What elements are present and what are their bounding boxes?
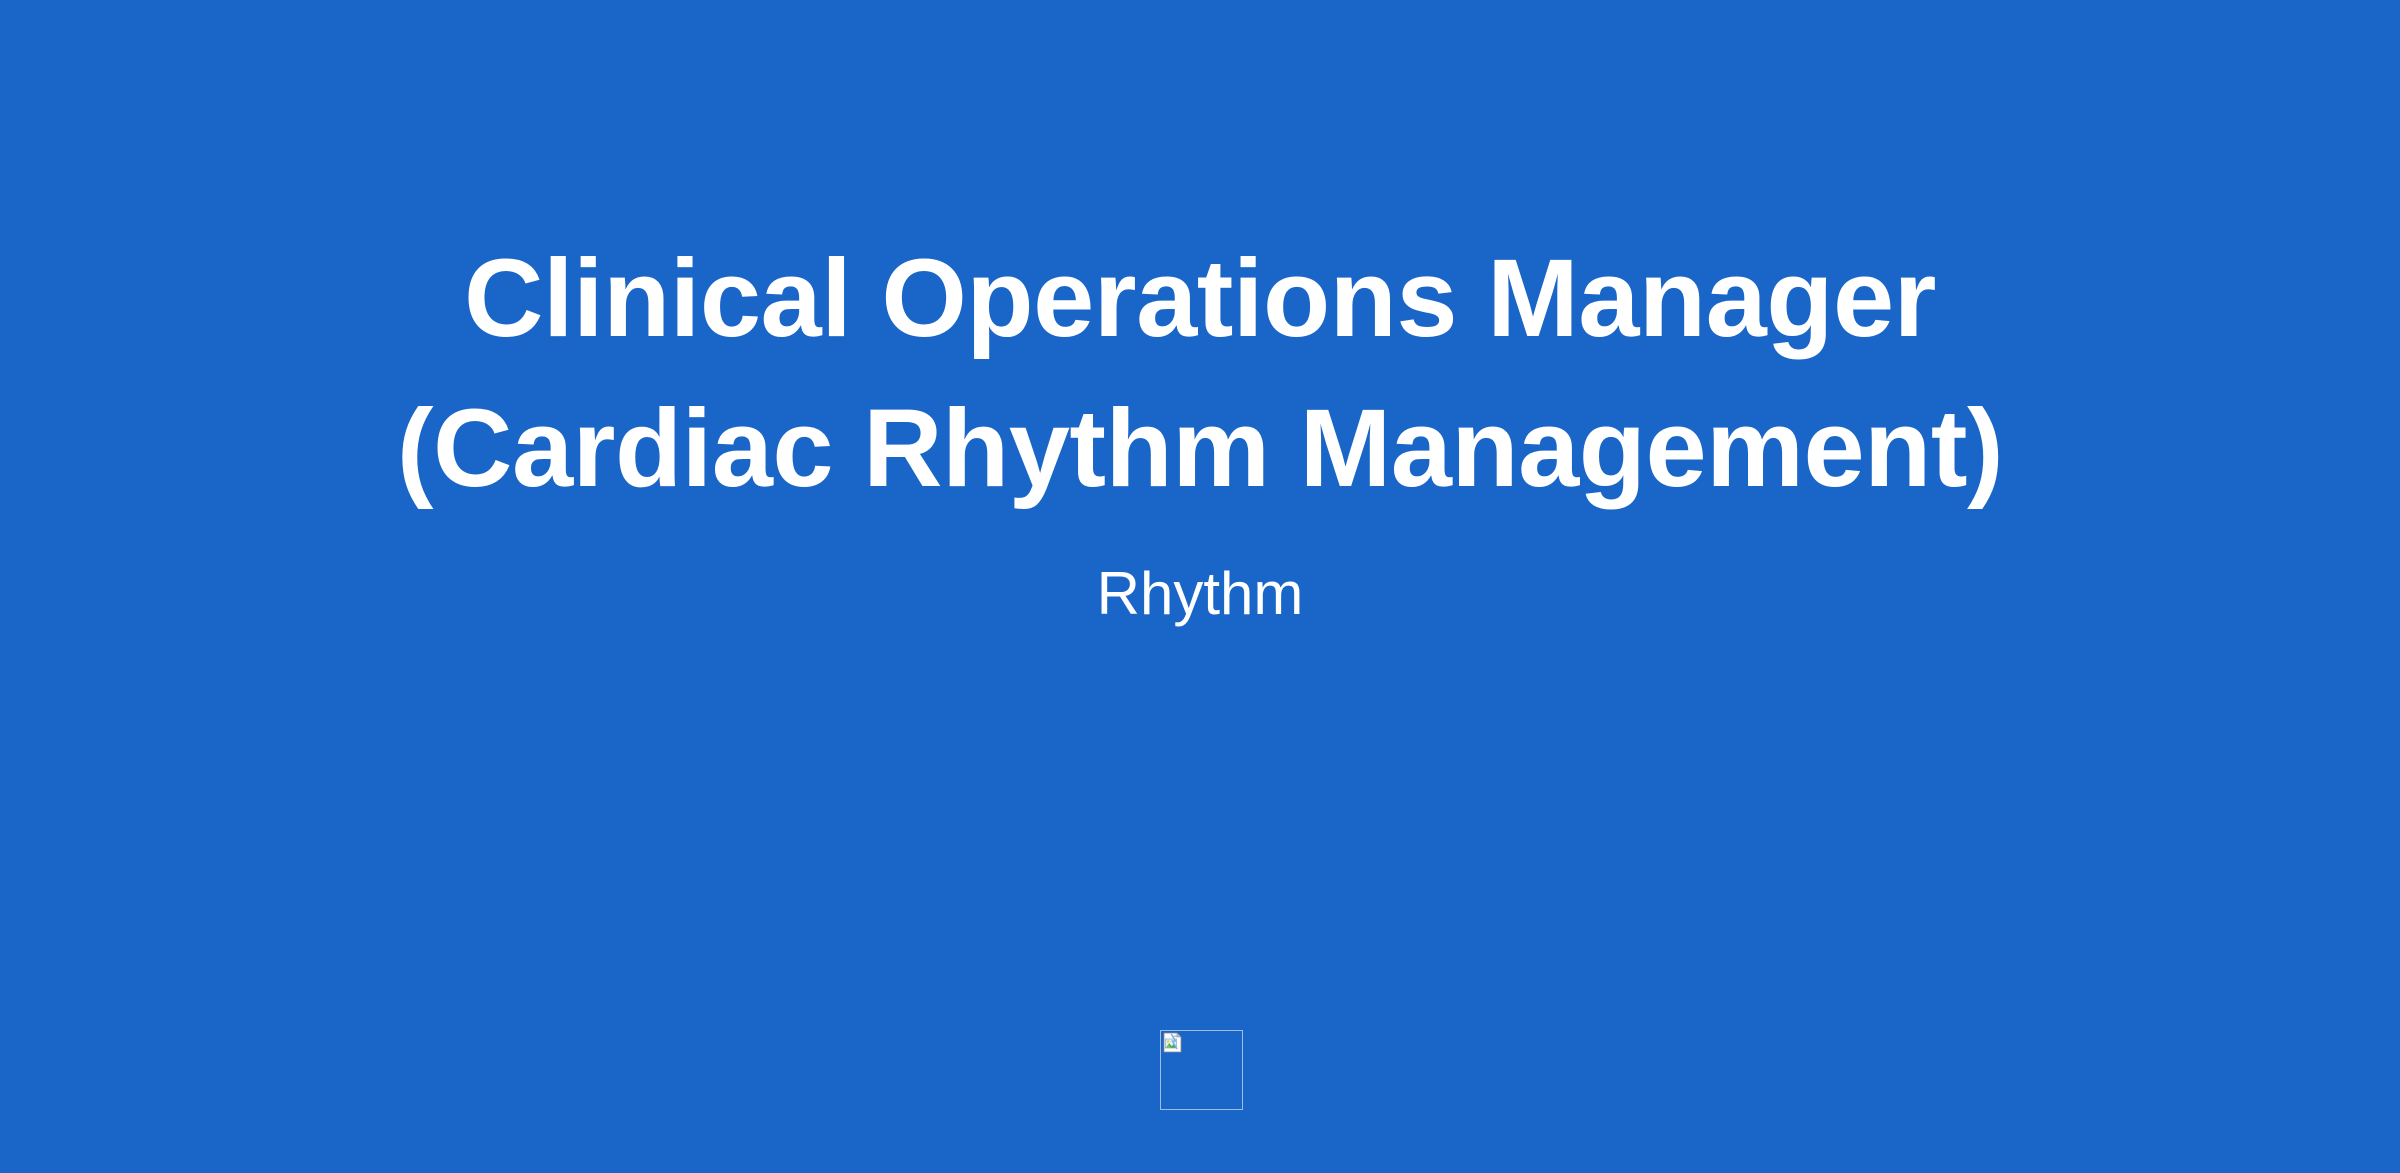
page-subtitle: Rhythm — [0, 558, 2400, 630]
title-slide: Clinical Operations Manager (Cardiac Rhy… — [0, 0, 2400, 1173]
page-title: Clinical Operations Manager (Cardiac Rhy… — [0, 224, 2400, 524]
company-logo-placeholder — [1160, 1030, 1243, 1110]
broken-image-icon — [1162, 1032, 1184, 1054]
hero-text-block: Clinical Operations Manager (Cardiac Rhy… — [0, 0, 2400, 630]
